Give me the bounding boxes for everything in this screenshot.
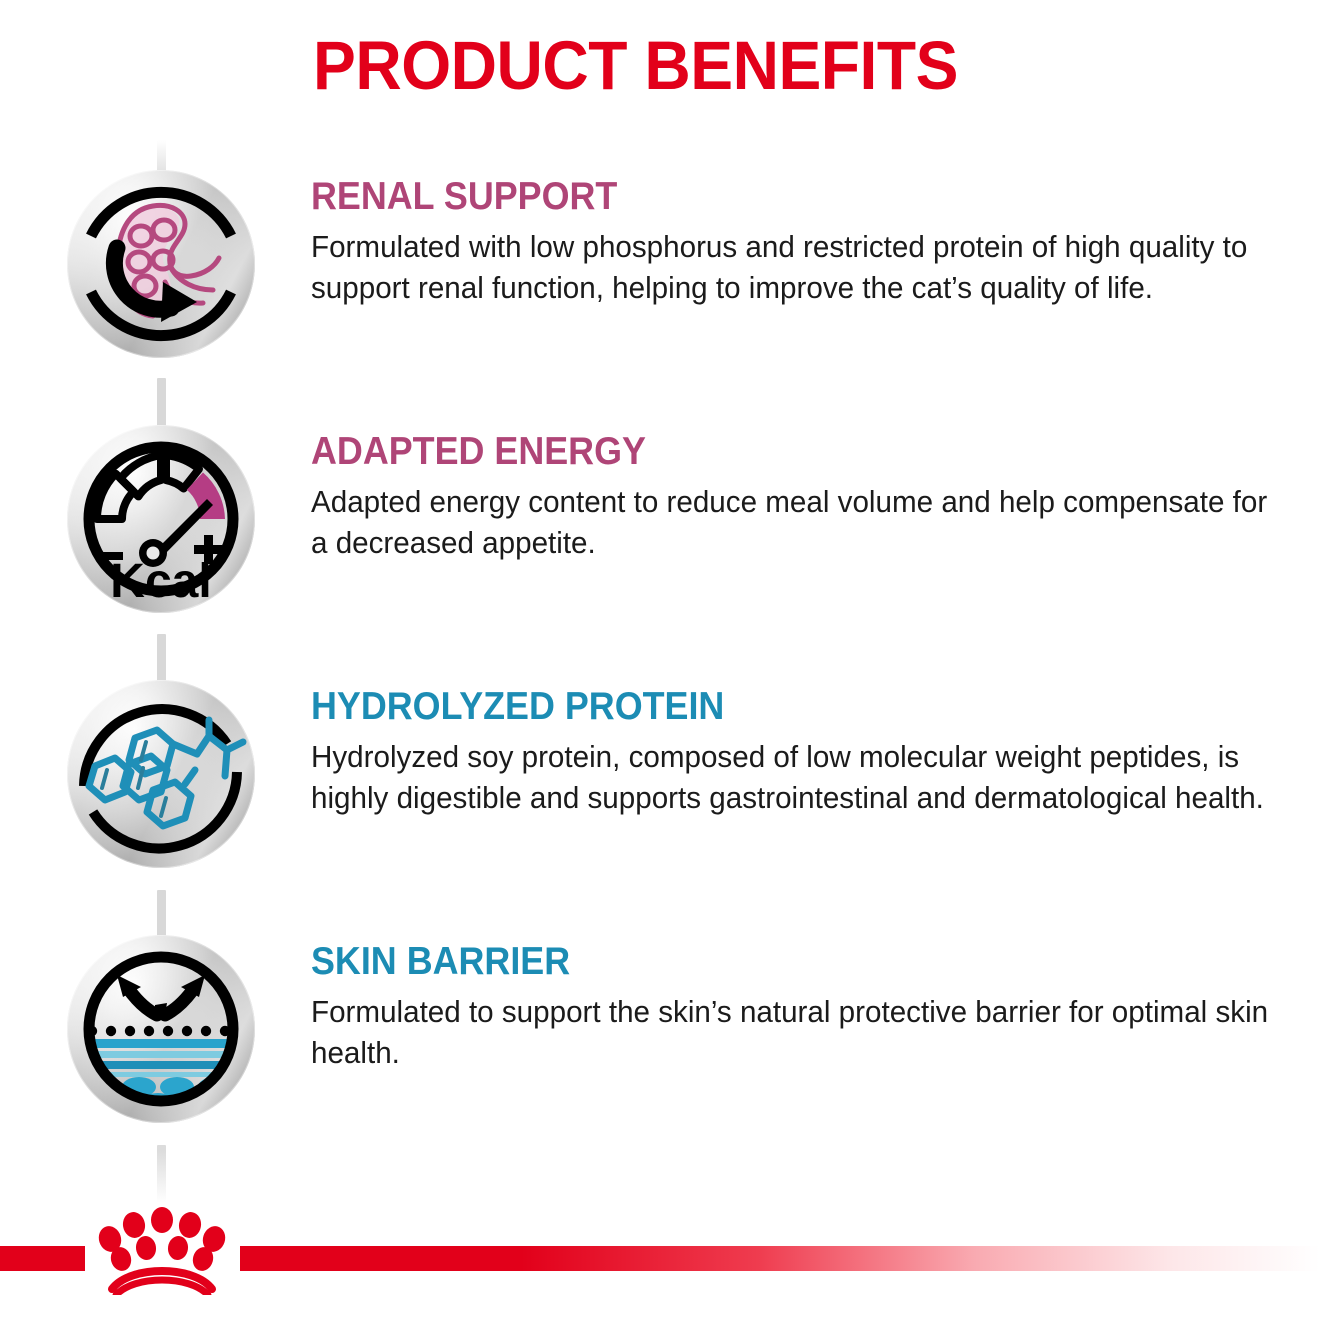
kidney-icon-glyph bbox=[67, 170, 255, 358]
benefit-text-renal-support: RENAL SUPPORT Formulated with low phosph… bbox=[311, 174, 1320, 308]
footer-bar-left bbox=[0, 1246, 85, 1271]
benefit-body: Formulated with low phosphorus and restr… bbox=[311, 227, 1275, 308]
benefit-text-adapted-energy: ADAPTED ENERGY Adapted energy content to… bbox=[311, 429, 1320, 563]
kcal-label: Kcal bbox=[110, 555, 211, 608]
benefit-body: Adapted energy content to reduce meal vo… bbox=[311, 482, 1275, 563]
molecule-icon bbox=[67, 680, 255, 868]
page-title: PRODUCT BENEFITS bbox=[313, 26, 958, 106]
benefit-body: Hydrolyzed soy protein, composed of low … bbox=[311, 737, 1275, 818]
benefit-heading: RENAL SUPPORT bbox=[311, 174, 1239, 219]
kidney-icon bbox=[67, 170, 255, 358]
skin-barrier-icon bbox=[67, 935, 255, 1123]
kcal-gauge-icon: Kcal bbox=[67, 425, 255, 613]
benefit-heading: SKIN BARRIER bbox=[311, 939, 1239, 984]
connector-line-2 bbox=[157, 634, 166, 686]
benefit-body: Formulated to support the skin’s natural… bbox=[311, 992, 1275, 1073]
benefit-text-hydrolyzed-protein: HYDROLYZED PROTEIN Hydrolyzed soy protei… bbox=[311, 684, 1320, 818]
skin-barrier-icon-glyph bbox=[67, 935, 255, 1123]
benefit-heading: ADAPTED ENERGY bbox=[311, 429, 1239, 474]
molecule-icon-glyph bbox=[67, 680, 255, 868]
connector-line-bottom bbox=[157, 1145, 166, 1203]
product-benefits-page: PRODUCT BENEFITS bbox=[0, 0, 1320, 1320]
footer-bar-right bbox=[240, 1246, 1320, 1271]
royal-canin-crown-logo bbox=[88, 1203, 236, 1295]
benefit-heading: HYDROLYZED PROTEIN bbox=[311, 684, 1239, 729]
kcal-gauge-icon-glyph: Kcal bbox=[67, 425, 255, 613]
benefit-text-skin-barrier: SKIN BARRIER Formulated to support the s… bbox=[311, 939, 1320, 1073]
connector-line-3 bbox=[157, 890, 166, 940]
